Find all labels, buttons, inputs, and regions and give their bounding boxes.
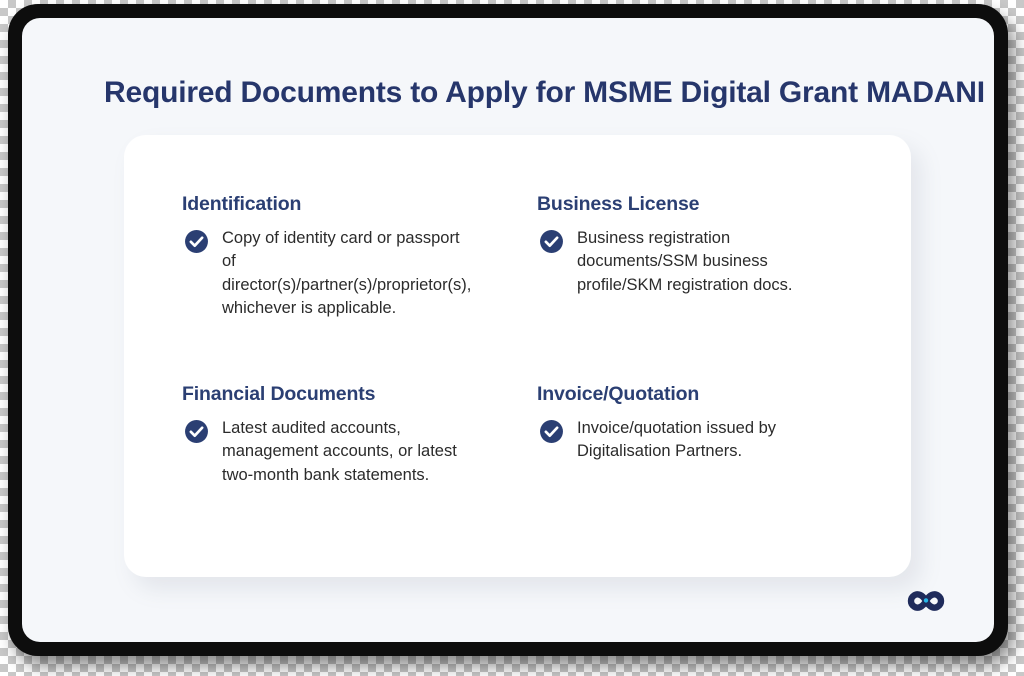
page-title: Required Documents to Apply for MSME Dig… <box>104 76 944 110</box>
check-circle-icon <box>184 419 209 444</box>
list-item: Business registration documents/SSM busi… <box>537 227 882 297</box>
check-circle-icon <box>184 229 209 254</box>
section-business-license: Business License Business registration d… <box>537 193 882 321</box>
section-heading: Financial Documents <box>182 383 527 406</box>
device-frame: Required Documents to Apply for MSME Dig… <box>8 4 1008 656</box>
section-heading: Business License <box>537 193 882 216</box>
list-item-text: Copy of identity card or passport of dir… <box>222 227 474 321</box>
list-item-text: Latest audited accounts, management acco… <box>222 417 474 487</box>
infinity-logo <box>903 588 949 614</box>
list-item: Invoice/quotation issued by Digitalisati… <box>537 417 882 464</box>
list-item-text: Business registration documents/SSM busi… <box>577 227 829 297</box>
check-circle-icon <box>539 419 564 444</box>
section-heading: Invoice/Quotation <box>537 383 882 406</box>
sections-grid: Identification Copy of identity card or … <box>182 193 882 487</box>
section-heading: Identification <box>182 193 527 216</box>
section-invoice-quotation: Invoice/Quotation Invoice/quotation issu… <box>537 383 882 487</box>
list-item: Latest audited accounts, management acco… <box>182 417 527 487</box>
slide-page: Required Documents to Apply for MSME Dig… <box>22 18 994 642</box>
check-circle-icon <box>539 229 564 254</box>
list-item: Copy of identity card or passport of dir… <box>182 227 527 321</box>
documents-card: Identification Copy of identity card or … <box>124 135 911 577</box>
list-item-text: Invoice/quotation issued by Digitalisati… <box>577 417 829 464</box>
section-financial-documents: Financial Documents Latest audited accou… <box>182 383 527 487</box>
section-identification: Identification Copy of identity card or … <box>182 193 527 321</box>
